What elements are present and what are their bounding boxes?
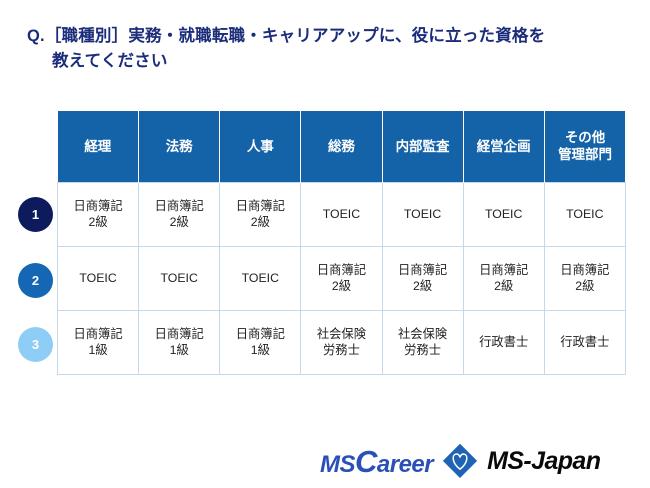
page-title: Q.［職種別］実務・就職転職・キャリアアップに、役に立った資格を 教えてください <box>27 24 627 74</box>
table-cell: 日商簿記 1級 <box>139 310 220 374</box>
table-cell: 日商簿記 2級 <box>544 246 625 310</box>
column-header-soumu: 総務 <box>301 111 382 182</box>
cell-line-1: 日商簿記 <box>222 326 298 342</box>
table-cell: TOEIC <box>463 182 544 246</box>
table-body: 日商簿記 2級 日商簿記 2級 日商簿記 2級 TOEIC TOEIC <box>58 182 626 374</box>
table-cell: TOEIC <box>301 182 382 246</box>
table-cell: TOEIC <box>58 246 139 310</box>
cell-line-2: 労務士 <box>385 342 461 358</box>
table-cell: TOEIC <box>220 246 301 310</box>
table-row: 日商簿記 2級 日商簿記 2級 日商簿記 2級 TOEIC TOEIC <box>58 182 626 246</box>
column-header-line-1: 人事 <box>222 138 298 155</box>
table-header-row: 経理 法務 人事 総務 内部監査 経営企画 その他 <box>58 111 626 182</box>
cell-line-1: 日商簿記 <box>141 198 217 214</box>
column-header-sonota-kanribumon: その他 管理部門 <box>544 111 625 182</box>
cell-line-1: TOEIC <box>303 206 379 222</box>
table-cell: 日商簿記 1級 <box>220 310 301 374</box>
column-header-line-1: 法務 <box>141 138 217 155</box>
column-header-jinji: 人事 <box>220 111 301 182</box>
table-cell: TOEIC <box>139 246 220 310</box>
cell-line-1: 日商簿記 <box>222 198 298 214</box>
cell-line-1: TOEIC <box>466 206 542 222</box>
column-header-houmu: 法務 <box>139 111 220 182</box>
table-cell: 日商簿記 2級 <box>301 246 382 310</box>
cell-line-1: 社会保険 <box>303 326 379 342</box>
cell-line-1: 行政書士 <box>466 334 542 350</box>
cell-line-1: 日商簿記 <box>385 262 461 278</box>
table-row: TOEIC TOEIC TOEIC 日商簿記 2級 日商簿記 2級 日商簿記 <box>58 246 626 310</box>
logo-lockup: MSCareer MS-Japan <box>320 441 600 481</box>
ranking-table-container: 経理 法務 人事 総務 内部監査 経営企画 その他 <box>57 111 625 375</box>
cell-line-1: 日商簿記 <box>303 262 379 278</box>
table-cell: TOEIC <box>382 182 463 246</box>
rank-badge-3: 3 <box>18 327 53 362</box>
cell-line-1: 日商簿記 <box>60 198 136 214</box>
table-cell: 日商簿記 2級 <box>382 246 463 310</box>
column-header-line-2: 管理部門 <box>547 146 624 163</box>
cell-line-2: 2級 <box>60 214 136 230</box>
cell-line-1: TOEIC <box>385 206 461 222</box>
cell-line-2: 2級 <box>466 278 542 294</box>
cell-line-2: 労務士 <box>303 342 379 358</box>
table-cell: 行政書士 <box>544 310 625 374</box>
column-header-line-1: 内部監査 <box>385 138 461 155</box>
mscareer-ms-text: MS <box>320 451 355 478</box>
column-header-keieikikaku: 経営企画 <box>463 111 544 182</box>
cell-line-1: TOEIC <box>222 270 298 286</box>
table-cell: 行政書士 <box>463 310 544 374</box>
column-header-keiri: 経理 <box>58 111 139 182</box>
column-header-line-1: 総務 <box>303 138 379 155</box>
column-header-naibukansa: 内部監査 <box>382 111 463 182</box>
cell-line-2: 2級 <box>547 278 623 294</box>
rank-badge-1: 1 <box>18 197 53 232</box>
cell-line-1: 日商簿記 <box>60 326 136 342</box>
table-row: 日商簿記 1級 日商簿記 1級 日商簿記 1級 社会保険 労務士 社会保険 <box>58 310 626 374</box>
cell-line-1: 日商簿記 <box>466 262 542 278</box>
cell-line-2: 1級 <box>60 342 136 358</box>
table-cell: 社会保険 労務士 <box>382 310 463 374</box>
cell-line-2: 2級 <box>222 214 298 230</box>
rank-badge-2: 2 <box>18 263 53 298</box>
cell-line-1: 社会保険 <box>385 326 461 342</box>
cell-line-1: 行政書士 <box>547 334 623 350</box>
table-cell: 日商簿記 2級 <box>220 182 301 246</box>
ranking-table: 経理 法務 人事 総務 内部監査 経営企画 その他 <box>57 111 626 375</box>
cell-line-2: 2級 <box>141 214 217 230</box>
cell-line-2: 2級 <box>303 278 379 294</box>
table-header: 経理 法務 人事 総務 内部監査 経営企画 その他 <box>58 111 626 182</box>
mscareer-wordmark: MSCareer <box>320 446 433 477</box>
mscareer-c-text: C <box>355 444 377 479</box>
column-header-line-1: 経理 <box>60 138 137 155</box>
ms-japan-diamond-icon <box>442 443 478 479</box>
table-cell: 日商簿記 2級 <box>58 182 139 246</box>
cell-line-2: 1級 <box>222 342 298 358</box>
cell-line-2: 1級 <box>141 342 217 358</box>
cell-line-1: 日商簿記 <box>547 262 623 278</box>
cell-line-2: 2級 <box>385 278 461 294</box>
page-title-line-1: Q.［職種別］実務・就職転職・キャリアアップに、役に立った資格を <box>27 24 627 49</box>
page-title-line-2: 教えてください <box>27 49 627 74</box>
ms-japan-wordmark: MS-Japan <box>487 449 600 474</box>
column-header-line-1: その他 <box>547 129 624 146</box>
table-cell: 日商簿記 2級 <box>463 246 544 310</box>
cell-line-1: TOEIC <box>60 270 136 286</box>
table-cell: 日商簿記 2級 <box>139 182 220 246</box>
cell-line-1: 日商簿記 <box>141 326 217 342</box>
rank-badge-column: 1 2 3 <box>0 0 57 488</box>
table-cell: TOEIC <box>544 182 625 246</box>
cell-line-1: TOEIC <box>141 270 217 286</box>
table-cell: 社会保険 労務士 <box>301 310 382 374</box>
cell-line-1: TOEIC <box>547 206 623 222</box>
table-cell: 日商簿記 1級 <box>58 310 139 374</box>
mscareer-areer-text: areer <box>377 451 433 478</box>
column-header-line-1: 経営企画 <box>466 138 542 155</box>
